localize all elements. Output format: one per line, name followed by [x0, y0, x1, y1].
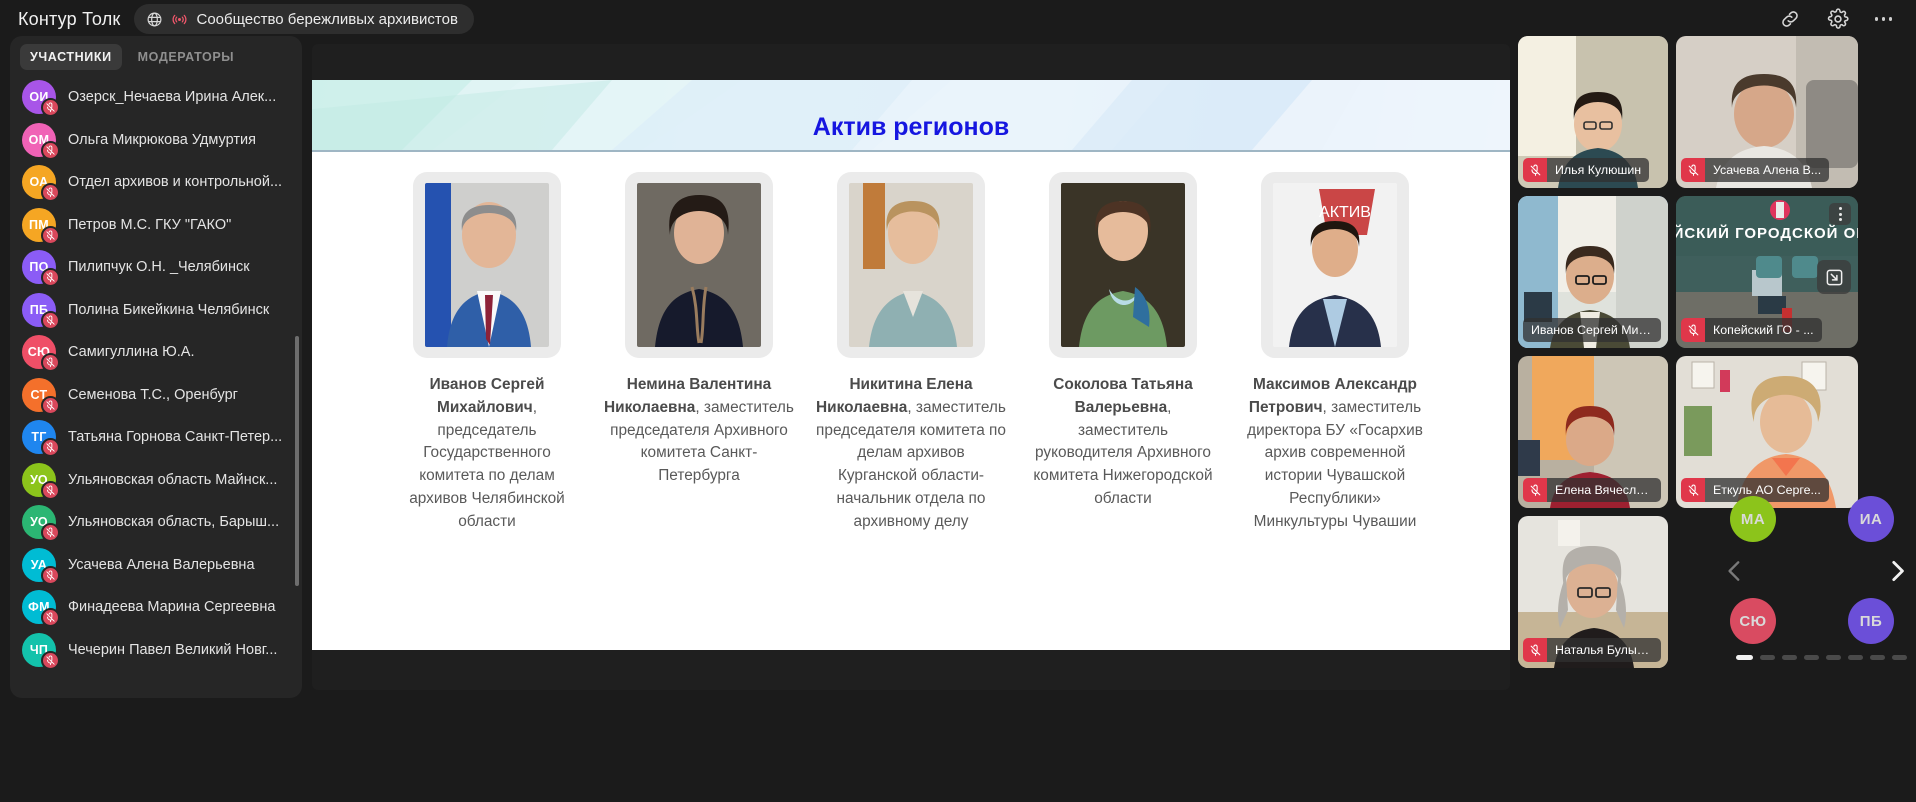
tile-participant-name: Елена Вячеслав...	[1547, 478, 1661, 502]
person-card: Немина Валентина Николаевна, заместитель…	[604, 172, 794, 534]
avatar: ПО	[22, 250, 56, 284]
avatar: УА	[22, 548, 56, 582]
avatar: СЮ	[22, 335, 56, 369]
mic-off-icon	[41, 481, 60, 500]
video-tiles-grid: Илья КулюшинУсачева Алена В...Иванов Сер…	[1518, 36, 1910, 798]
avatar: ТГ	[22, 420, 56, 454]
tile-name-chip: Иванов Сергей Мих...	[1523, 318, 1661, 342]
person-photo-frame	[413, 172, 561, 358]
pager-dot[interactable]	[1848, 655, 1863, 660]
pager-avatar[interactable]: ПБ	[1848, 598, 1894, 644]
mic-off-icon	[41, 226, 60, 245]
person-photo-frame	[1049, 172, 1197, 358]
video-tile[interactable]: Елена Вячеслав...	[1518, 356, 1668, 508]
participant-name: Полина Бикейкина Челябинск	[68, 302, 292, 318]
person-name: Соколова Татьяна Валерьевна	[1053, 376, 1193, 416]
pager-dot[interactable]	[1804, 655, 1819, 660]
avatar: ОА	[22, 165, 56, 199]
portrait-woman-green-jacket	[1061, 183, 1185, 347]
tile-name-chip: Илья Кулюшин	[1523, 158, 1649, 182]
link-icon[interactable]	[1779, 8, 1801, 30]
tile-participant-name: Иванов Сергей Мих...	[1523, 318, 1661, 342]
participant-row[interactable]: ЧПЧечерин Павел Великий Новг...	[10, 629, 302, 672]
pager-dot[interactable]	[1736, 655, 1753, 660]
tile-name-chip: Елена Вячеслав...	[1523, 478, 1661, 502]
app-brand: Контур Толк	[18, 9, 120, 30]
mic-off-icon	[1523, 638, 1547, 662]
screen-share-stage[interactable]: Актив регионов Иванов Сергей Михайлович,…	[312, 44, 1510, 690]
person-photo-frame: АКТИВ	[1261, 172, 1409, 358]
mic-off-icon	[1681, 158, 1705, 182]
participant-name: Татьяна Горнова Санкт-Петер...	[68, 429, 292, 445]
avatar: ОМ	[22, 123, 56, 157]
mic-off-icon	[41, 651, 60, 670]
mic-off-icon	[41, 396, 60, 415]
mic-off-icon	[41, 353, 60, 372]
tile-more-options-icon[interactable]	[1829, 203, 1851, 225]
participant-row[interactable]: ПБПолина Бикейкина Челябинск	[10, 289, 302, 332]
person-card: АКТИВМаксимов Александр Петрович, замест…	[1240, 172, 1430, 534]
chevron-left-icon[interactable]	[1718, 550, 1752, 592]
participant-name: Ольга Микрюкова Удмуртия	[68, 132, 292, 148]
participant-row[interactable]: ОМОльга Микрюкова Удмуртия	[10, 119, 302, 162]
tile-participant-name: Копейский ГО - ...	[1705, 318, 1822, 342]
recording-indicator-icon	[172, 12, 187, 27]
avatar: ПБ	[22, 293, 56, 327]
person-name: Иванов Сергей Михайлович	[430, 376, 545, 416]
presentation-slide: Актив регионов Иванов Сергей Михайлович,…	[312, 80, 1510, 650]
mic-off-icon	[41, 438, 60, 457]
svg-text:АКТИВ: АКТИВ	[1319, 204, 1371, 221]
avatar: ОИ	[22, 80, 56, 114]
portrait-woman-teal-jacket	[849, 183, 973, 347]
person-role: , заместитель директора БУ «Госархив арх…	[1247, 399, 1423, 530]
participant-name: Самигуллина Ю.А.	[68, 344, 292, 360]
tile-participant-name: Илья Кулюшин	[1547, 158, 1649, 182]
participant-row[interactable]: СТСеменова Т.С., Оренбург	[10, 374, 302, 417]
participants-scrollbar[interactable]	[295, 336, 299, 586]
participant-name: Усачева Алена Валерьевна	[68, 557, 292, 573]
person-card: Никитина Елена Николаевна, заместитель п…	[816, 172, 1006, 534]
participants-list[interactable]: ОИОзерск_Нечаева Ирина Алек...ОМОльга Ми…	[10, 76, 302, 698]
participant-row[interactable]: ТГТатьяна Горнова Санкт-Петер...	[10, 416, 302, 459]
top-bar: Контур Толк Сообщество бережливых архиви…	[0, 0, 1916, 38]
participant-row[interactable]: УАУсачева Алена Валерьевна	[10, 544, 302, 587]
participant-name: Ульяновская область, Барыш...	[68, 514, 292, 530]
person-role: , председатель Государственного комитета…	[409, 399, 565, 530]
pager-avatar[interactable]: МА	[1730, 496, 1776, 542]
room-title: Сообщество бережливых архивистов	[196, 11, 457, 28]
participant-row[interactable]: УОУльяновская область, Барыш...	[10, 501, 302, 544]
video-tile[interactable]: Наталья Булыгина	[1518, 516, 1668, 668]
tile-name-chip: Усачева Алена В...	[1681, 158, 1829, 182]
tile-participant-name: Усачева Алена В...	[1705, 158, 1829, 182]
participant-row[interactable]: ПОПилипчук О.Н. _Челябинск	[10, 246, 302, 289]
gear-icon[interactable]	[1827, 8, 1849, 30]
person-card: Соколова Татьяна Валерьевна, заместитель…	[1028, 172, 1218, 534]
person-caption: Максимов Александр Петрович, заместитель…	[1240, 374, 1430, 534]
mic-off-icon	[41, 608, 60, 627]
mic-off-icon	[1681, 318, 1705, 342]
pager-avatar[interactable]: СЮ	[1730, 598, 1776, 644]
mic-off-icon	[41, 98, 60, 117]
avatar: ПМ	[22, 208, 56, 242]
mic-off-icon	[41, 268, 60, 287]
globe-icon	[146, 11, 163, 28]
person-photo-frame	[625, 172, 773, 358]
portrait-man-dark-suit: АКТИВ	[1273, 183, 1397, 347]
avatar: ФМ	[22, 590, 56, 624]
participant-name: Отдел архивов и контрольной...	[68, 174, 292, 190]
pager-avatar[interactable]: ИА	[1848, 496, 1894, 542]
person-caption: Соколова Татьяна Валерьевна, заместитель…	[1028, 374, 1218, 511]
panel-tabs: УЧАСТНИКИ МОДЕРАТОРЫ	[10, 36, 302, 76]
portrait-woman-dark-dress	[637, 183, 761, 347]
mic-off-icon	[1681, 478, 1705, 502]
more-options-icon[interactable]	[1875, 17, 1893, 21]
svg-text:ЕЙСКИЙ ГОРОДСКОЙ ОК: ЕЙСКИЙ ГОРОДСКОЙ ОК	[1676, 224, 1858, 242]
mic-off-icon	[41, 311, 60, 330]
participant-name: Пилипчук О.Н. _Челябинск	[68, 259, 292, 275]
participant-row[interactable]: УОУльяновская область Майнск...	[10, 459, 302, 502]
participant-row[interactable]: ФМФинадеева Марина Сергеевна	[10, 586, 302, 629]
pager-dot[interactable]	[1870, 655, 1885, 660]
avatar: ЧП	[22, 633, 56, 667]
chevron-right-icon[interactable]	[1880, 550, 1914, 592]
pager-dots[interactable]	[1736, 655, 1907, 660]
video-tile[interactable]: Илья Кулюшин	[1518, 36, 1668, 188]
tile-name-chip: Копейский ГО - ...	[1681, 318, 1822, 342]
person-caption: Никитина Елена Николаевна, заместитель п…	[816, 374, 1006, 534]
video-tile[interactable]: Усачева Алена В...	[1676, 36, 1858, 188]
mic-off-icon	[1523, 478, 1547, 502]
pager-dot[interactable]	[1782, 655, 1797, 660]
mic-off-icon	[41, 141, 60, 160]
room-title-pill[interactable]: Сообщество бережливых архивистов	[134, 4, 473, 34]
person-caption: Немина Валентина Николаевна, заместитель…	[604, 374, 794, 488]
pager-dot[interactable]	[1892, 655, 1907, 660]
tab-moderators[interactable]: МОДЕРАТОРЫ	[128, 44, 244, 70]
participant-row[interactable]: СЮСамигуллина Ю.А.	[10, 331, 302, 374]
tab-participants[interactable]: УЧАСТНИКИ	[20, 44, 122, 70]
mic-off-icon	[41, 566, 60, 585]
top-bar-actions	[1779, 8, 1899, 30]
avatar: УО	[22, 505, 56, 539]
mic-off-icon	[41, 183, 60, 202]
person-card: Иванов Сергей Михайлович, председатель Г…	[392, 172, 582, 534]
participant-name: Семенова Т.С., Оренбург	[68, 387, 292, 403]
participant-name: Озерск_Нечаева Ирина Алек...	[68, 89, 292, 105]
pin-video-icon[interactable]	[1817, 260, 1851, 294]
participants-panel: УЧАСТНИКИ МОДЕРАТОРЫ ОИОзерск_Нечаева Ир…	[10, 36, 302, 698]
video-tile[interactable]: Иванов Сергей Мих...	[1518, 196, 1668, 348]
tile-name-chip: Наталья Булыгина	[1523, 638, 1661, 662]
video-tile[interactable]: ЕЙСКИЙ ГОРОДСКОЙ ОККопейский ГО - ...	[1676, 196, 1858, 348]
pager-dot[interactable]	[1760, 655, 1775, 660]
person-caption: Иванов Сергей Михайлович, председатель Г…	[392, 374, 582, 534]
person-role: , заместитель председателя комитета по д…	[816, 399, 1006, 530]
person-photo-frame	[837, 172, 985, 358]
slide-header-banner: Актив регионов	[312, 80, 1510, 152]
portrait-man-blue-suit	[425, 183, 549, 347]
participant-row[interactable]: ПМПетров М.С. ГКУ "ГАКО"	[10, 204, 302, 247]
participant-name: Чечерин Павел Великий Новг...	[68, 642, 292, 658]
participant-row[interactable]: ОАОтдел архивов и контрольной...	[10, 161, 302, 204]
video-tile[interactable]: Еткуль АО Серге...	[1676, 356, 1858, 508]
slide-title: Актив регионов	[312, 113, 1510, 142]
mic-off-icon	[41, 523, 60, 542]
avatar-pager: МАИАСЮПБ	[1718, 492, 1910, 652]
tile-participant-name: Наталья Булыгина	[1547, 638, 1661, 662]
meeting-app-window: Контур Толк Сообщество бережливых архиви…	[0, 0, 1916, 802]
pager-dot[interactable]	[1826, 655, 1841, 660]
mic-off-icon	[1523, 158, 1547, 182]
avatar: УО	[22, 463, 56, 497]
participant-row[interactable]: ОИОзерск_Нечаева Ирина Алек...	[10, 76, 302, 119]
participant-name: Ульяновская область Майнск...	[68, 472, 292, 488]
people-cards: Иванов Сергей Михайлович, председатель Г…	[312, 152, 1510, 534]
participant-name: Финадеева Марина Сергеевна	[68, 599, 292, 615]
participant-name: Петров М.С. ГКУ "ГАКО"	[68, 217, 292, 233]
avatar: СТ	[22, 378, 56, 412]
